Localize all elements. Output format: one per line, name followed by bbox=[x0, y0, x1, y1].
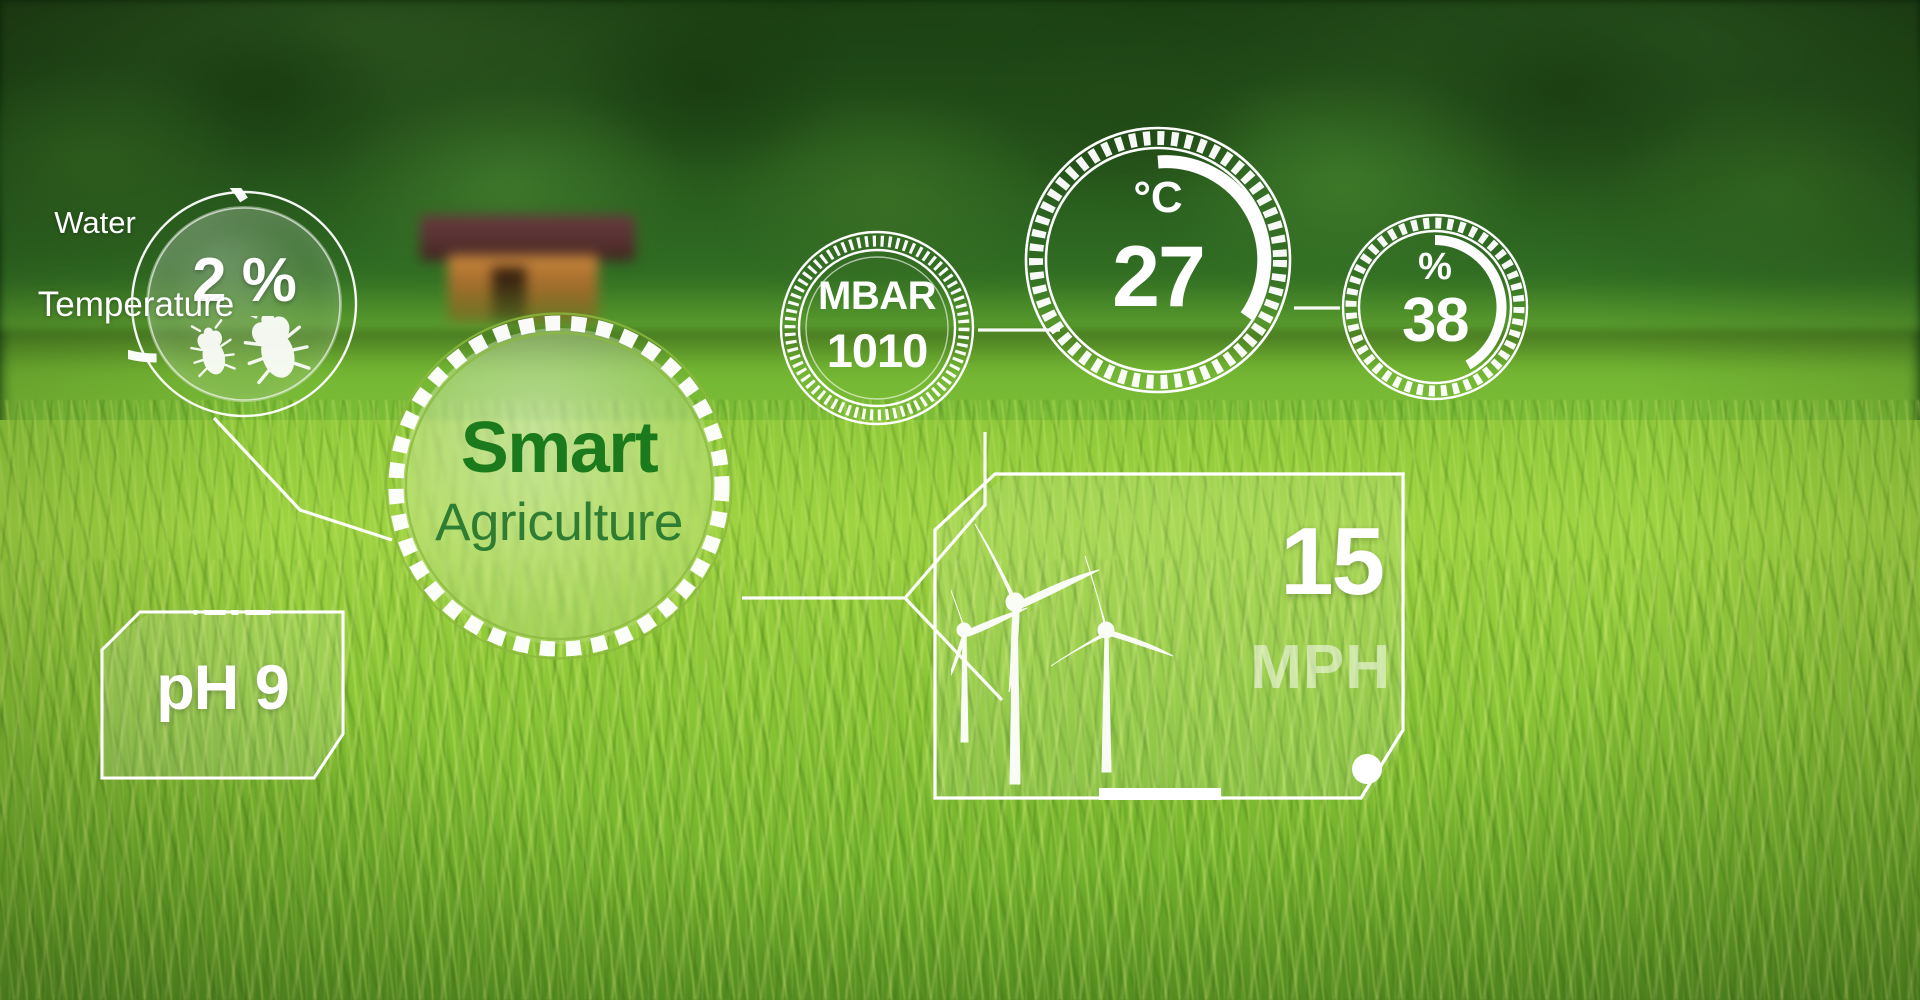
wind-value: 15 bbox=[1280, 514, 1383, 610]
pressure-gauge[interactable]: MBAR 1010 bbox=[777, 228, 977, 428]
wind-panel-corner-dot bbox=[1352, 754, 1382, 784]
wind-panel[interactable]: 15 MPH bbox=[933, 472, 1405, 800]
water-value: 38 bbox=[1340, 290, 1530, 352]
wind-unit: MPH bbox=[1250, 632, 1391, 703]
smart-agriculture-hub[interactable]: Smart Agriculture bbox=[381, 308, 737, 664]
ph-value: pH 9 bbox=[100, 657, 345, 720]
temperature-label: Temperature bbox=[0, 285, 292, 325]
water-gauge[interactable]: % 38 bbox=[1340, 212, 1530, 402]
ph-panel[interactable]: pH 9 bbox=[100, 610, 345, 780]
water-unit: % bbox=[1340, 248, 1530, 286]
connector-pest-to-center bbox=[214, 418, 392, 540]
smart-subtitle: Agriculture bbox=[381, 496, 737, 549]
wind-turbine-icon bbox=[951, 502, 1201, 792]
temperature-value: 27 bbox=[1022, 234, 1294, 320]
temperature-unit: °C bbox=[1022, 176, 1294, 220]
smart-title: Smart bbox=[381, 412, 737, 484]
water-label: Water bbox=[0, 205, 215, 241]
temperature-gauge[interactable]: °C 27 bbox=[1022, 124, 1294, 396]
pressure-unit: MBAR bbox=[777, 276, 977, 316]
insect-pest-icon bbox=[184, 316, 324, 390]
hud-overlay: 2 % bbox=[0, 0, 1920, 1000]
pressure-value: 1010 bbox=[777, 327, 977, 374]
ph-panel-top-dashes bbox=[193, 610, 271, 615]
